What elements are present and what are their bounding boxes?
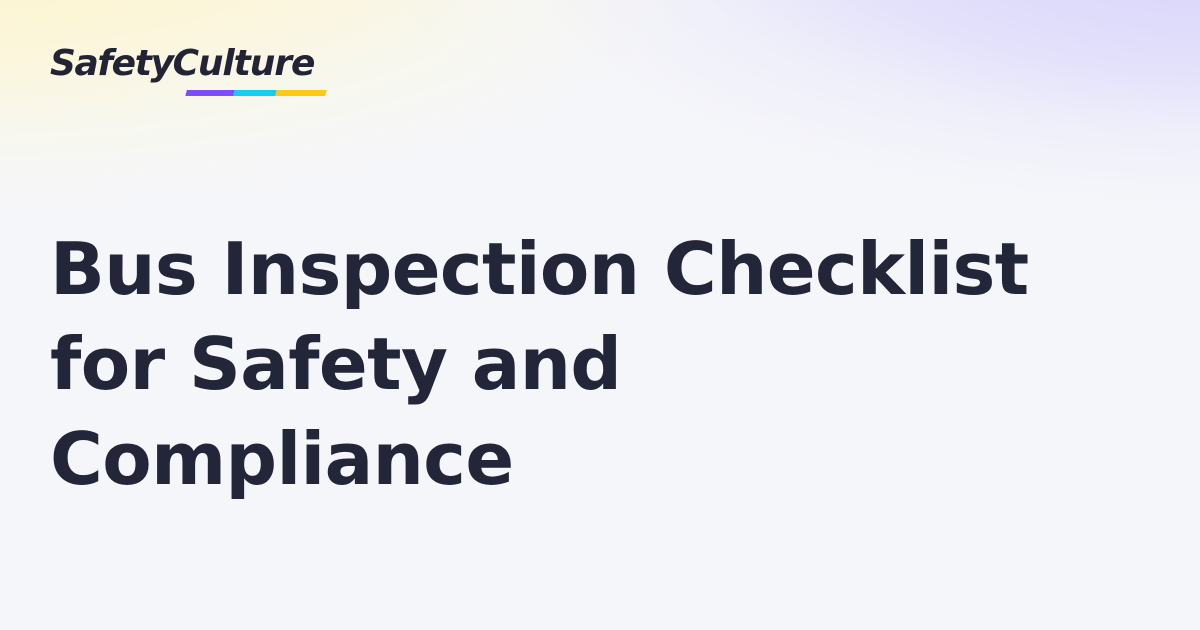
logo-underline-segment-cyan	[233, 90, 276, 96]
logo-word-safety: Safety	[50, 43, 173, 84]
logo-underline-bar	[185, 90, 326, 96]
logo-underline-segment-purple	[185, 90, 234, 96]
logo-word-culture: Culture	[173, 43, 315, 84]
og-card: SafetyCulture Bus Inspection Checklist f…	[0, 0, 1200, 630]
safetyculture-logo[interactable]: SafetyCulture	[50, 46, 314, 82]
logo-wordmark: SafetyCulture	[50, 46, 314, 82]
logo-underline-segment-yellow	[275, 90, 327, 96]
page-title: Bus Inspection Checklist for Safety and …	[50, 222, 1060, 507]
